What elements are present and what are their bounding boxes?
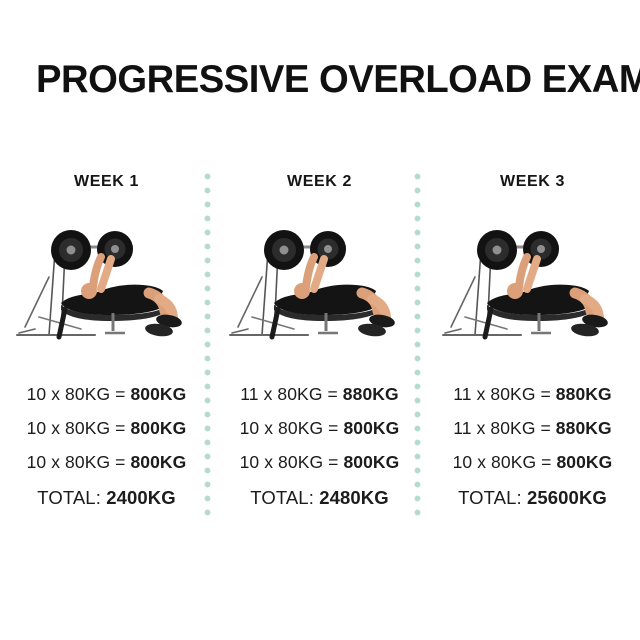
set-row: 11 x 80KG = 880KG [453, 377, 612, 411]
week-header-3: WEEK 3 [500, 173, 565, 191]
set-result: 800KG [343, 418, 399, 438]
set-prefix: 10 x 80KG = [240, 452, 339, 472]
set-prefix: 10 x 80KG = [27, 418, 126, 438]
total-label: TOTAL: [458, 487, 522, 508]
set-row: 11 x 80KG = 880KG [453, 411, 612, 445]
set-result: 800KG [130, 452, 186, 472]
set-prefix: 10 x 80KG = [27, 384, 126, 404]
total-row: TOTAL: 25600KG [458, 483, 607, 513]
total-row: TOTAL: 2480KG [250, 483, 388, 513]
set-result: 880KG [343, 384, 399, 404]
total-value: 2400KG [106, 487, 176, 508]
set-row: 10 x 80KG = 800KG [240, 411, 400, 445]
set-result: 880KG [556, 384, 612, 404]
column-divider-1 [204, 173, 211, 518]
page-title: PROGRESSIVE OVERLOAD EXAMPLE [36, 58, 604, 102]
set-prefix: 10 x 80KG = [27, 452, 126, 472]
set-list-2: 11 x 80KG = 880KG 10 x 80KG = 800KG 10 x… [213, 377, 426, 513]
total-row: TOTAL: 2400KG [37, 483, 175, 513]
set-prefix: 11 x 80KG = [240, 384, 338, 404]
set-list-3: 11 x 80KG = 880KG 11 x 80KG = 880KG 10 x… [426, 377, 639, 513]
set-prefix: 11 x 80KG = [453, 384, 551, 404]
bench-press-illustration-1 [9, 217, 205, 345]
set-row: 11 x 80KG = 880KG [240, 377, 399, 411]
bench-press-illustration-3 [435, 217, 631, 345]
set-row: 10 x 80KG = 800KG [27, 445, 187, 479]
week-column-1: WEEK 1 [0, 165, 213, 525]
set-prefix: 10 x 80KG = [240, 418, 339, 438]
week-column-3: WEEK 3 [426, 165, 639, 525]
week-columns: WEEK 1 [0, 165, 640, 525]
total-label: TOTAL: [37, 487, 101, 508]
infographic-poster: PROGRESSIVE OVERLOAD EXAMPLE WEEK 1 [0, 0, 640, 640]
set-result: 800KG [130, 418, 186, 438]
bench-press-illustration-2 [222, 217, 418, 345]
set-prefix: 11 x 80KG = [453, 418, 551, 438]
set-prefix: 10 x 80KG = [453, 452, 552, 472]
set-list-1: 10 x 80KG = 800KG 10 x 80KG = 800KG 10 x… [0, 377, 213, 513]
week-column-2: WEEK 2 [213, 165, 426, 525]
set-row: 10 x 80KG = 800KG [240, 445, 400, 479]
set-result: 800KG [130, 384, 186, 404]
week-header-2: WEEK 2 [287, 173, 352, 191]
total-label: TOTAL: [250, 487, 314, 508]
set-row: 10 x 80KG = 800KG [453, 445, 613, 479]
column-divider-2 [414, 173, 421, 518]
total-value: 25600KG [527, 487, 607, 508]
week-header-1: WEEK 1 [74, 173, 139, 191]
set-row: 10 x 80KG = 800KG [27, 377, 187, 411]
set-result: 880KG [556, 418, 612, 438]
set-result: 800KG [556, 452, 612, 472]
set-row: 10 x 80KG = 800KG [27, 411, 187, 445]
total-value: 2480KG [319, 487, 389, 508]
set-result: 800KG [343, 452, 399, 472]
